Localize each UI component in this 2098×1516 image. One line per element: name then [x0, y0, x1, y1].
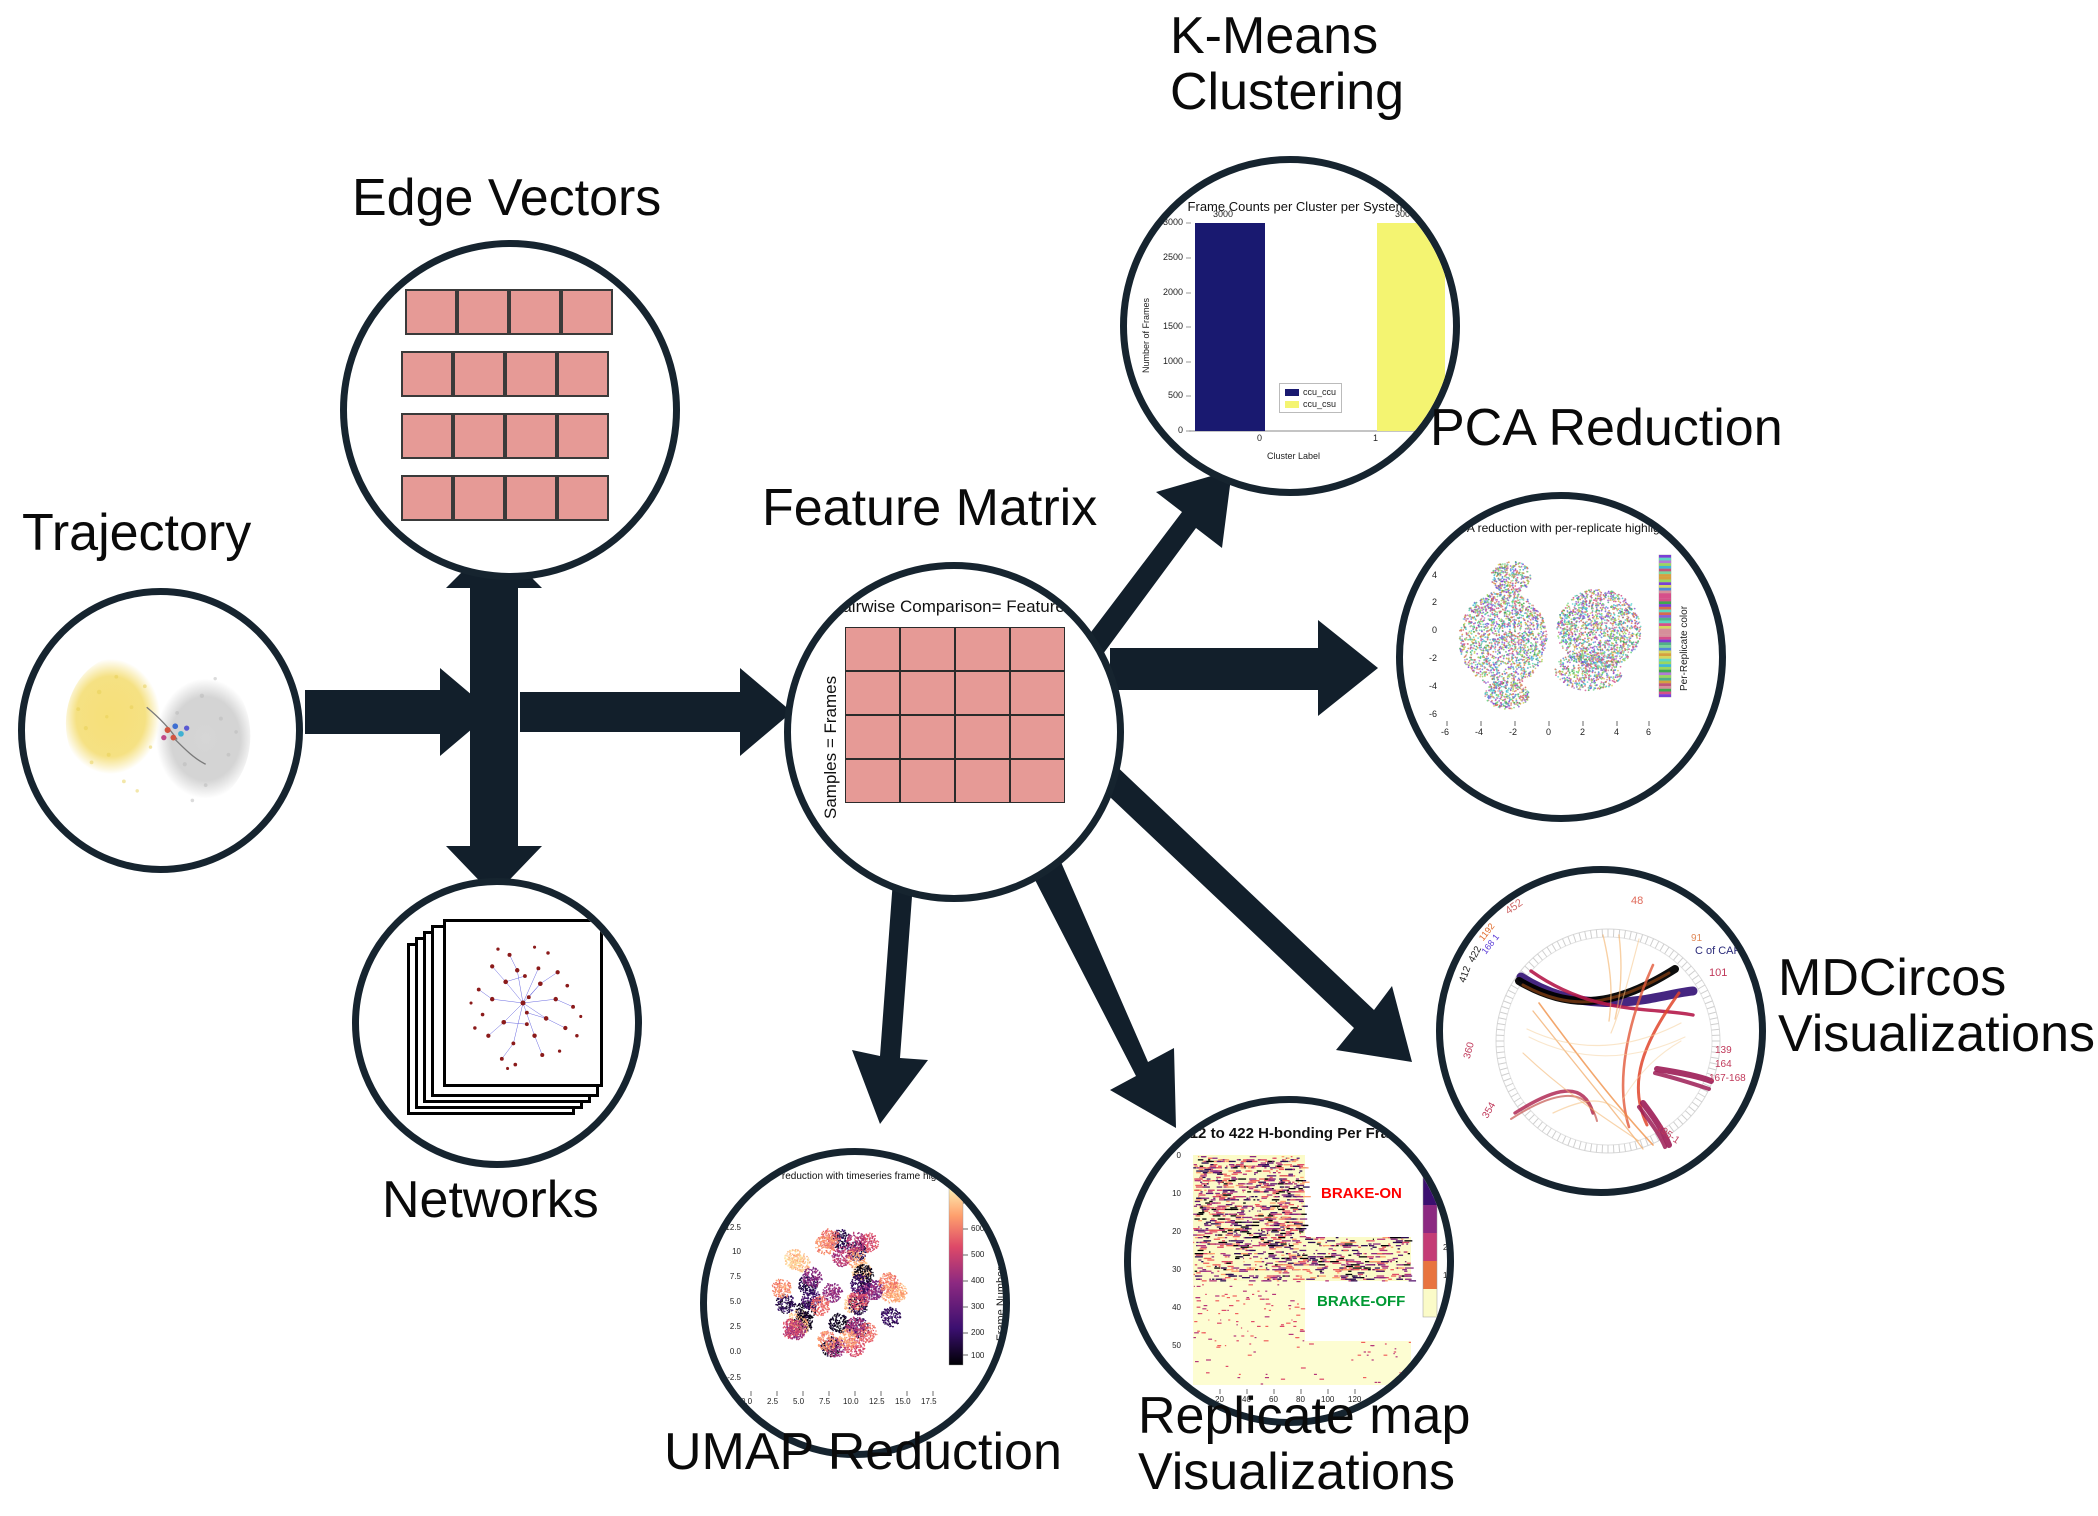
matrix-cell: [900, 715, 955, 759]
umap-colorbar-tick: 500: [971, 1250, 984, 1259]
legend-label: ccu_ccu: [1303, 387, 1336, 397]
pca-xtick: -6: [1441, 727, 1449, 737]
umap-xtick: 7.5: [819, 1397, 830, 1406]
matrix-cell: [1010, 671, 1065, 715]
feature-matrix-grid: [845, 627, 1065, 803]
kmeans-ytick: 2000: [1139, 287, 1183, 297]
pca-ytick: 6: [1411, 543, 1437, 553]
circos-label-167-168: 167-168: [1709, 1073, 1746, 1084]
kmeans-ytick: 0: [1139, 425, 1183, 435]
replicate-colorbar-tick: 4.0: [1443, 1187, 1447, 1196]
feature-matrix-render: Pairwise Comparison= Feature Samples = F…: [791, 569, 1117, 895]
edge-vector-cell: [453, 413, 505, 459]
umap-xtick: 5.0: [793, 1397, 804, 1406]
pca-xtick: 6: [1646, 727, 1651, 737]
feature-matrix-label: Feature Matrix: [762, 480, 1097, 536]
replicate-colorbar-tick: 5.0: [1443, 1159, 1447, 1168]
edge-vector-cell: [557, 413, 609, 459]
trajectory-label: Trajectory: [22, 505, 251, 561]
pca-node: PCA reduction with per-replicate highlig…: [1396, 492, 1726, 822]
networks-label: Networks: [382, 1172, 599, 1228]
edge-vector-cell: [453, 351, 505, 397]
pca-xtick: 4: [1614, 727, 1619, 737]
circos-label-101: 101: [1709, 967, 1727, 979]
edge-vector-cell: [401, 475, 453, 521]
umap-ytick: 10: [711, 1247, 741, 1256]
edge-vector-cell: [453, 475, 505, 521]
kmeans-ytick: 3000: [1139, 217, 1183, 227]
umap-colorbar-tick: 200: [971, 1328, 984, 1337]
umap-colorbar-label: Frame Number: [995, 1267, 1003, 1341]
network-graph-icon: [446, 922, 600, 1084]
pca-xtick: -2: [1509, 727, 1517, 737]
replicate-ytick: 30: [1159, 1265, 1181, 1274]
pca-scatter-plot: [1403, 499, 1719, 815]
umap-label: UMAP Reduction: [664, 1424, 1062, 1480]
umap-xtick: 17.5: [921, 1397, 937, 1406]
umap-ytick: 15.0: [711, 1199, 741, 1208]
pca-xtick: -4: [1475, 727, 1483, 737]
kmeans-bar-value: 3000: [1213, 209, 1233, 219]
edge-vector-cell: [457, 289, 509, 335]
kmeans-bar-value: 3000: [1395, 209, 1415, 219]
umap-colorbar-tick: 100: [971, 1351, 984, 1360]
mdcircos-label: MDCircos Visualizations: [1778, 950, 2095, 1062]
matrix-cell: [845, 671, 900, 715]
pca-colorbar-label: Per-Replicate color: [1679, 606, 1690, 691]
networks-node: [352, 878, 642, 1168]
feature-matrix-top-label: Pairwise Comparison= Feature: [831, 597, 1065, 617]
umap-colorbar-tick: 400: [971, 1276, 984, 1285]
pca-ytick: 2: [1411, 597, 1437, 607]
edge-vector-cell: [405, 289, 457, 335]
feature-matrix-grid-wrap: [845, 627, 1065, 803]
workflow-diagram: Trajectory: [0, 0, 2098, 1516]
edge-vector-row: [405, 289, 613, 335]
kmeans-legend: ccu_ccu ccu_csu: [1279, 383, 1342, 413]
kmeans-ytick: 2500: [1139, 252, 1183, 262]
umap-colorbar-tick: 300: [971, 1302, 984, 1311]
circos-label-48: 48: [1631, 895, 1643, 907]
matrix-cell: [955, 671, 1010, 715]
circos-label-164: 164: [1715, 1059, 1732, 1070]
replicate-annotation-brake-on: BRAKE-ON: [1321, 1185, 1402, 1202]
umap-ytick: 2.5: [711, 1322, 741, 1331]
replicate-colorbar: [1423, 1149, 1437, 1317]
pca-ytick: -6: [1411, 709, 1437, 719]
arrow-trajectory-to-junction: [305, 668, 492, 756]
mdcircos-render: 452 48 91 C of CAR 101 139 164 167-168 1…: [1443, 873, 1759, 1189]
edge-vector-cell: [561, 289, 613, 335]
umap-ytick: 5.0: [711, 1297, 741, 1306]
matrix-cell: [1010, 759, 1065, 803]
umap-xtick: 2.5: [767, 1397, 778, 1406]
edge-vector-cell: [401, 413, 453, 459]
edge-vectors-label: Edge Vectors: [352, 170, 661, 226]
arrow-featurematrix-to-pca: [1110, 620, 1378, 716]
matrix-cell: [900, 671, 955, 715]
edge-vector-row: [401, 413, 609, 459]
replicate-colorbar-tick: 2.0: [1443, 1243, 1447, 1252]
edge-vector-cell: [509, 289, 561, 335]
kmeans-xtick: 1: [1373, 433, 1378, 443]
matrix-cell: [845, 715, 900, 759]
replicate-ytick: 20: [1159, 1227, 1181, 1236]
umap-ytick: 12.5: [711, 1223, 741, 1232]
edge-vector-cell: [505, 351, 557, 397]
edge-vector-cell: [505, 475, 557, 521]
replicate-map-label: Replicate map Visualizations: [1138, 1388, 1470, 1500]
feature-matrix-left-label: Samples = Frames: [821, 676, 841, 819]
legend-entry: ccu_ccu: [1285, 387, 1336, 397]
legend-swatch-ccu-csu: [1285, 401, 1299, 408]
networks-render: [359, 885, 635, 1161]
mdcircos-chord-diagram: [1443, 873, 1759, 1189]
kmeans-yaxis-label: Number of Frames: [1141, 298, 1151, 373]
legend-label: ccu_csu: [1303, 399, 1336, 409]
edge-vector-cell: [401, 351, 453, 397]
replicate-map-render: 412 to 422 H-bonding Per Frame: [1131, 1103, 1447, 1419]
umap-xtick: 12.5: [869, 1397, 885, 1406]
mdcircos-node: 452 48 91 C of CAR 101 139 164 167-168 1…: [1436, 866, 1766, 1196]
umap-node: UMAP reduction with timeseries frame hig…: [700, 1148, 1010, 1458]
matrix-cell: [1010, 627, 1065, 671]
umap-xtick: 15.0: [895, 1397, 911, 1406]
kmeans-xaxis-label: Cluster Label: [1267, 451, 1320, 461]
matrix-cell: [845, 627, 900, 671]
trajectory-molecule-icon: [25, 595, 296, 866]
kmeans-render: Frame Counts per Cluster per System 3000…: [1127, 163, 1453, 489]
pca-render: PCA reduction with per-replicate highlig…: [1403, 499, 1719, 815]
edge-vector-cell: [557, 475, 609, 521]
replicate-ytick: 10: [1159, 1189, 1181, 1198]
edge-vector-row: [401, 475, 609, 521]
replicate-map-node: 412 to 422 H-bonding Per Frame: [1124, 1096, 1454, 1426]
replicate-ytick: 0: [1159, 1151, 1181, 1160]
umap-xtick: 0.0: [741, 1397, 752, 1406]
pca-ytick: 4: [1411, 570, 1437, 580]
matrix-cell: [955, 759, 1010, 803]
edge-vector-row: [401, 351, 609, 397]
umap-colorbar-tick: 600: [971, 1224, 984, 1233]
matrix-cell: [845, 759, 900, 803]
arrow-featurematrix-to-kmeans: [1085, 470, 1232, 658]
umap-ytick: -2.5: [711, 1373, 741, 1382]
matrix-cell: [955, 715, 1010, 759]
matrix-cell: [900, 627, 955, 671]
replicate-colorbar-tick: 1.0: [1443, 1271, 1447, 1280]
matrix-cell: [1010, 715, 1065, 759]
pca-xtick: 2: [1580, 727, 1585, 737]
arrow-junction-to-networks: [446, 716, 542, 896]
kmeans-ytick: 500: [1139, 390, 1183, 400]
replicate-colorbar-tick: 3.0: [1443, 1215, 1447, 1224]
kmeans-xtick: 0: [1257, 433, 1262, 443]
pca-xtick: 0: [1546, 727, 1551, 737]
edge-vectors-node: [340, 240, 680, 580]
replicate-ytick: 60: [1159, 1377, 1181, 1386]
arrow-junction-bar: [470, 690, 518, 730]
edge-vector-cell: [505, 413, 557, 459]
circos-label-c-of-car: C of CAR: [1695, 945, 1741, 957]
edge-vectors-render: [347, 247, 673, 573]
arrow-featurematrix-to-mdcircos: [1092, 760, 1412, 1062]
umap-ytick: 0.0: [711, 1347, 741, 1356]
replicate-annotation-brake-off: BRAKE-OFF: [1317, 1293, 1405, 1310]
replicate-ytick: 50: [1159, 1341, 1181, 1350]
trajectory-node: [18, 588, 303, 873]
pca-label: PCA Reduction: [1430, 400, 1783, 456]
pca-ytick: -2: [1411, 653, 1437, 663]
replicate-colorbar-tick: 0.0: [1443, 1299, 1447, 1308]
matrix-cell: [900, 759, 955, 803]
pca-ytick: -4: [1411, 681, 1437, 691]
legend-swatch-ccu-ccu: [1285, 389, 1299, 396]
umap-scatter-plot: [707, 1155, 1003, 1451]
kmeans-bar-cluster0: [1195, 223, 1265, 431]
trajectory-render: [25, 595, 296, 866]
kmeans-label: K-Means Clustering: [1170, 8, 1404, 120]
umap-render: UMAP reduction with timeseries frame hig…: [707, 1155, 1003, 1451]
circos-label-139: 139: [1715, 1045, 1732, 1056]
matrix-cell: [955, 627, 1010, 671]
umap-colorbar-tick: 700: [971, 1198, 984, 1207]
network-card-front: [443, 919, 603, 1087]
umap-colorbar: [949, 1183, 963, 1365]
kmeans-node: Frame Counts per Cluster per System 3000…: [1120, 156, 1460, 496]
umap-ytick: 7.5: [711, 1272, 741, 1281]
arrow-junction-to-featurematrix: [520, 668, 792, 756]
umap-xtick: 10.0: [843, 1397, 859, 1406]
legend-entry: ccu_csu: [1285, 399, 1336, 409]
replicate-ytick: 40: [1159, 1303, 1181, 1312]
feature-matrix-node: Pairwise Comparison= Feature Samples = F…: [784, 562, 1124, 902]
circos-label-91: 91: [1691, 933, 1702, 944]
pca-ytick: 0: [1411, 625, 1437, 635]
edge-vector-cell: [557, 351, 609, 397]
